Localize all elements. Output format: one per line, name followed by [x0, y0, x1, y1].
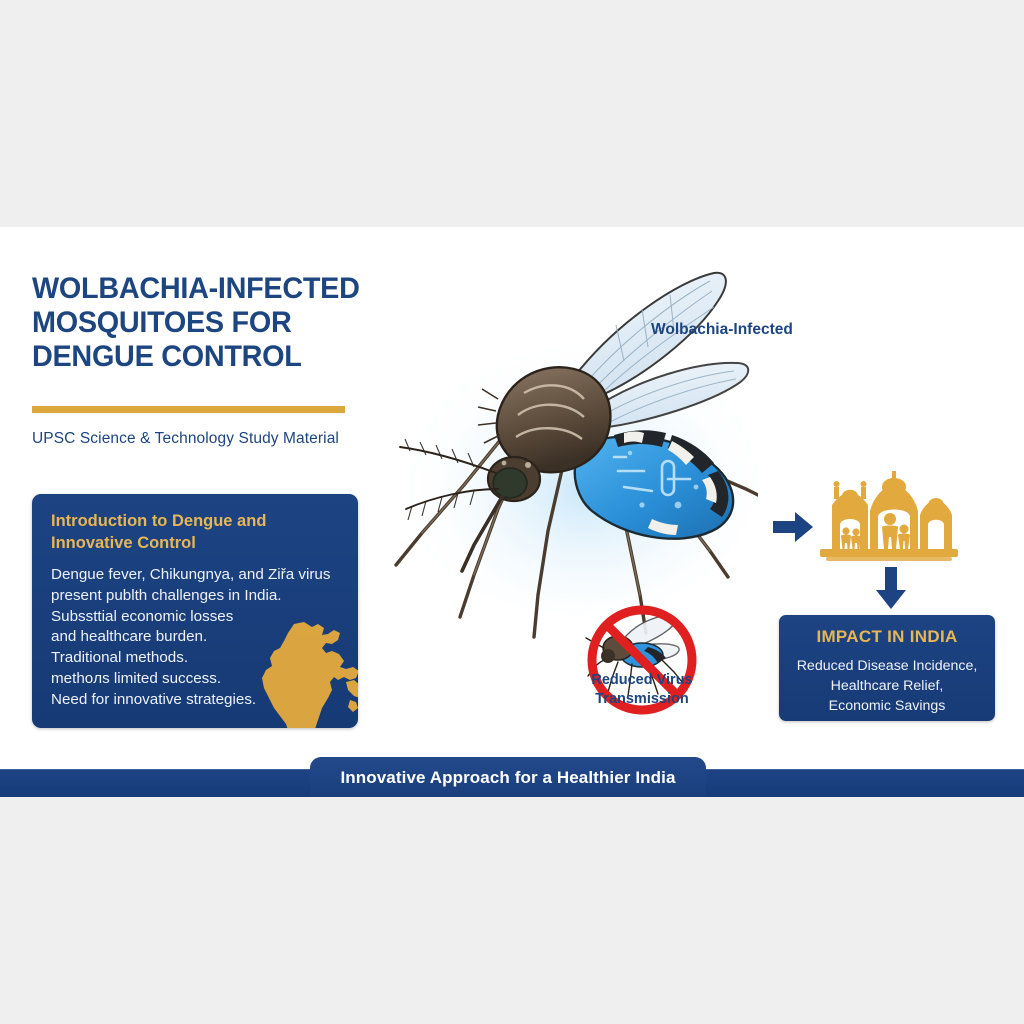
- page-title-line-2: MOSQUITOES FOR: [32, 306, 435, 340]
- arrow-right-icon: [773, 510, 813, 544]
- wolbachia-infected-label: Wolbachia-Infected: [651, 321, 793, 339]
- caption-line: Transmission: [562, 690, 722, 709]
- page-title-line-1: WOLBACHIA-INFECTED: [32, 272, 435, 306]
- intro-body-line: present publth challenges in India.: [51, 586, 341, 607]
- arrow-down-icon: [874, 567, 908, 609]
- impact-body-line: Reduced Disease Incidence,: [779, 656, 995, 676]
- page-root: WOLBACHIA-INFECTED MOSQUITOES FOR DENGUE…: [0, 0, 1024, 1024]
- reduced-transmission-caption: Reduced Virus Transmission: [562, 671, 722, 708]
- infographic-canvas: WOLBACHIA-INFECTED MOSQUITOES FOR DENGUE…: [0, 227, 1024, 797]
- impact-card-body: Reduced Disease Incidence, Healthcare Re…: [779, 656, 995, 716]
- impact-body-line: Economic Savings: [779, 696, 995, 716]
- bottom-banner-text: Innovative Approach for a Healthier Indi…: [310, 757, 706, 797]
- impact-body-line: Healthcare Relief,: [779, 676, 995, 696]
- intro-card-heading: Introduction to Dengue and Innovative Co…: [51, 511, 313, 555]
- title-divider: [32, 406, 345, 413]
- taj-mahal-family-icon: [812, 471, 966, 565]
- impact-card-title: IMPACT IN INDIA: [779, 627, 995, 647]
- caption-line: Reduced Virus: [562, 671, 722, 690]
- page-title-line-3: DENGUE CONTROL: [32, 340, 435, 374]
- impact-card: IMPACT IN INDIA Reduced Disease Incidenc…: [779, 615, 995, 721]
- intro-card: Introduction to Dengue and Innovative Co…: [32, 494, 358, 728]
- india-map-icon: [260, 620, 358, 728]
- page-subtitle: UPSC Science & Technology Study Material: [32, 430, 339, 448]
- intro-body-line: Dengue fever, Chikungnya, and Ziřa virus: [51, 565, 341, 586]
